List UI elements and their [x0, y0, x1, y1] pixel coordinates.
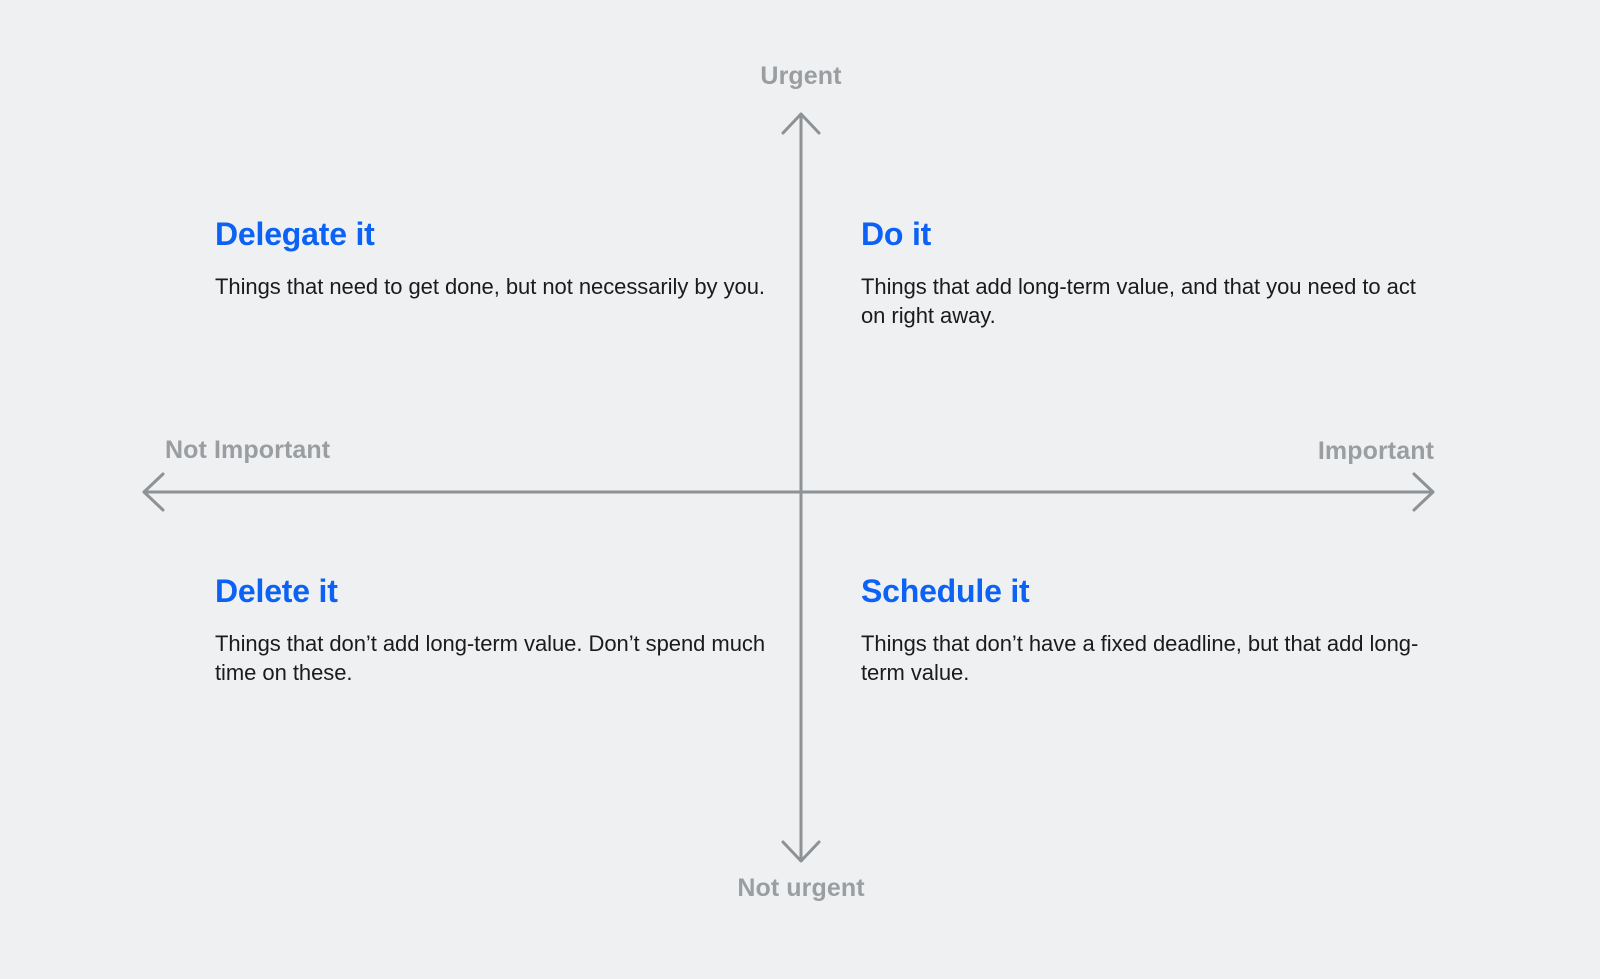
- quadrant-title: Do it: [861, 218, 1421, 250]
- quadrant-delegate: Delegate it Things that need to get done…: [215, 218, 775, 301]
- quadrant-title: Delegate it: [215, 218, 775, 250]
- eisenhower-matrix: Urgent Not urgent Not Important Importan…: [0, 0, 1600, 979]
- axis-label-not-urgent: Not urgent: [737, 874, 864, 903]
- quadrant-title: Schedule it: [861, 575, 1421, 607]
- quadrant-delete: Delete it Things that don’t add long-ter…: [215, 575, 775, 687]
- axis-label-important: Important: [1318, 437, 1434, 466]
- quadrant-schedule: Schedule it Things that don’t have a fix…: [861, 575, 1421, 687]
- quadrant-title: Delete it: [215, 575, 775, 607]
- axis-label-urgent: Urgent: [760, 62, 841, 91]
- arrow-down-icon: [783, 842, 819, 861]
- arrow-right-icon: [1414, 474, 1433, 510]
- quadrant-description: Things that add long-term value, and tha…: [861, 272, 1421, 330]
- arrow-up-icon: [783, 114, 819, 133]
- quadrant-do: Do it Things that add long-term value, a…: [861, 218, 1421, 330]
- arrow-left-icon: [144, 474, 163, 510]
- quadrant-description: Things that don’t have a fixed deadline,…: [861, 629, 1421, 687]
- axis-lines: [0, 0, 1600, 979]
- quadrant-description: Things that need to get done, but not ne…: [215, 272, 775, 301]
- axis-label-not-important: Not Important: [165, 436, 330, 465]
- quadrant-description: Things that don’t add long-term value. D…: [215, 629, 775, 687]
